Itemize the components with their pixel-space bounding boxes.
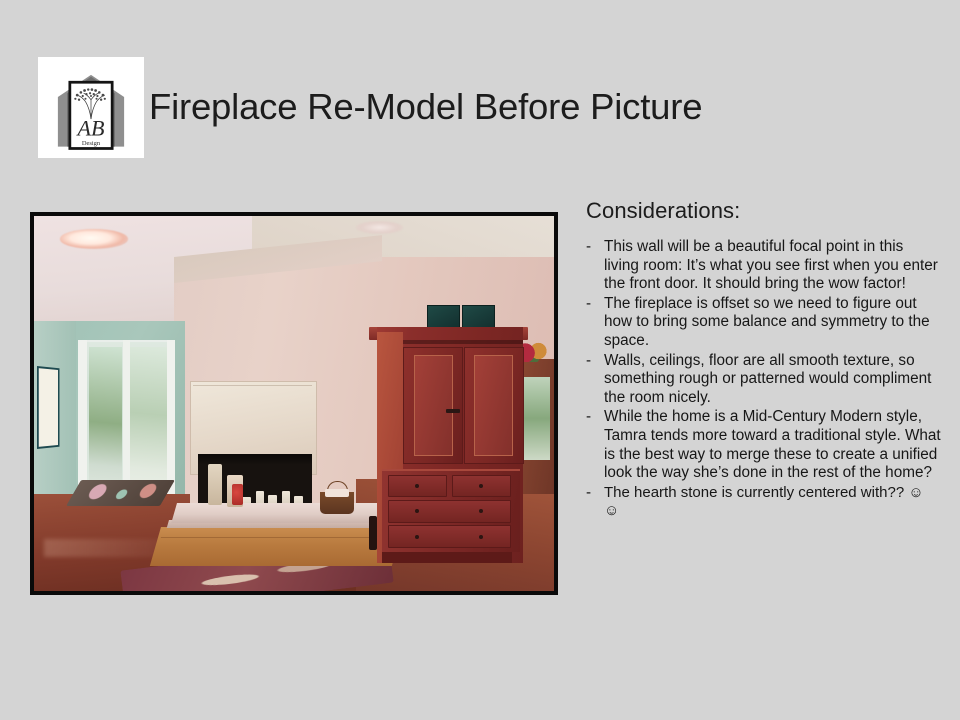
bullet-dash-icon: - [586,238,604,257]
list-item: - The fireplace is offset so we need to … [586,295,942,351]
photo-armoire-handle [446,409,460,413]
photo-red-accent [232,484,243,505]
photo-speaker [462,305,495,328]
list-item: - The hearth stone is currently centered… [586,484,942,521]
list-item-text: The fireplace is offset so we need to fi… [604,295,942,351]
photo-framed-art [37,366,60,449]
fireplace-before-photo [30,212,558,595]
photo-hearth-grain [161,537,403,538]
logo-monogram: AB [76,115,105,140]
considerations-list: - This wall will be a beautiful focal po… [586,238,942,521]
photo-speaker [427,305,460,328]
bullet-dash-icon: - [586,352,604,371]
photo-basket-cloth [325,489,349,497]
list-item-text: The hearth stone is currently centered w… [604,484,942,521]
photo-drawer [388,500,512,523]
recessed-light-icon [356,221,403,234]
bullet-dash-icon: - [586,484,604,503]
photo-vase [208,464,222,505]
photo-drawer-knob [415,509,419,513]
photo-drawer-knob [415,484,419,488]
photo-power-cord [369,516,376,550]
photo-armoire-base [382,552,512,563]
bullet-dash-icon: - [586,408,604,427]
photo-drawer-knob [479,535,483,539]
list-item-text: Walls, ceilings, floor are all smooth te… [604,352,942,408]
considerations-heading: Considerations: [586,198,942,224]
bullet-dash-icon: - [586,295,604,314]
photo-armoire-door-panel [414,355,453,456]
photo-drawer-knob [415,535,419,539]
considerations-panel: Considerations: - This wall will be a be… [586,198,942,522]
list-item-text: While the home is a Mid-Century Modern s… [604,408,942,482]
photo-hearth-wood-base [150,527,403,566]
list-item: - This wall will be a beautiful focal po… [586,238,942,294]
photo-image [34,216,554,591]
logo-wordmark: Design [82,139,101,146]
photo-drawer-knob [479,509,483,513]
photo-surround-seam [193,385,313,386]
list-item: - Walls, ceilings, floor are all smooth … [586,352,942,408]
ab-design-logo: AB Design [38,57,144,158]
photo-accent-rug [66,480,175,506]
slide-canvas: AB Design Fireplace Re-Model Before Pict… [0,0,960,720]
page-title: Fireplace Re-Model Before Picture [149,86,849,128]
recessed-light-icon [60,229,128,248]
photo-armoire-door-panel [474,355,513,456]
list-item: - While the home is a Mid-Century Modern… [586,408,942,482]
list-item-text: This wall will be a beautiful focal poin… [604,238,942,294]
photo-drawer [388,525,512,548]
logo-artwork-svg: AB Design [45,62,137,154]
photo-drawer-knob [479,484,483,488]
